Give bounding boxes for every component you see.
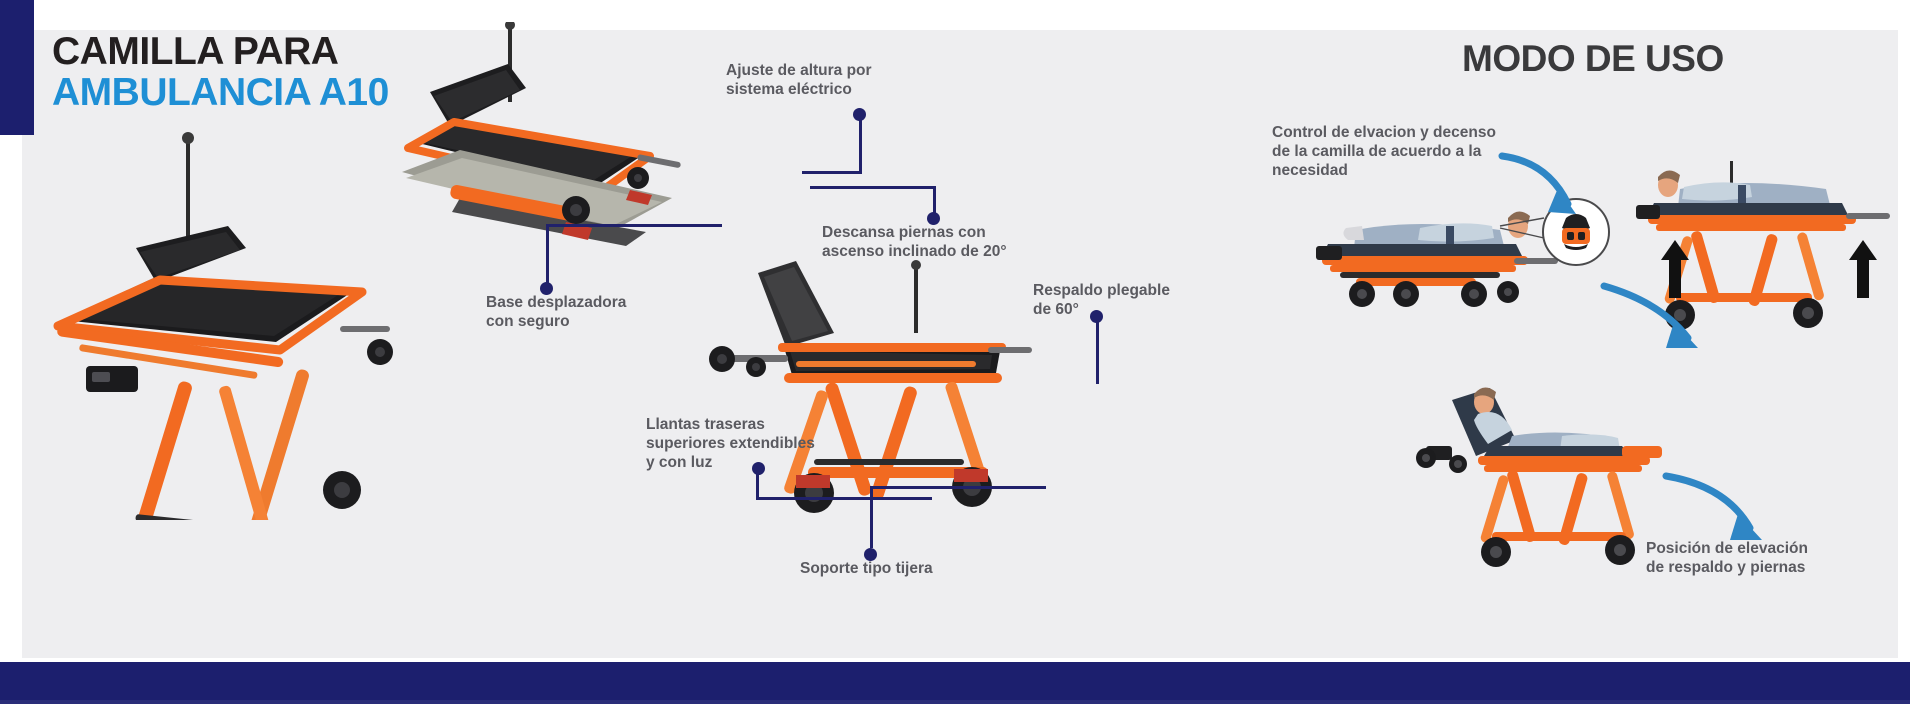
leader-ajuste-altura (802, 110, 932, 184)
callout-base-desplazadora: Base desplazadora con seguro (486, 294, 706, 332)
title-line-2: AMBULANCIA A10 (52, 73, 389, 114)
callout-ajuste-altura: Ajuste de altura por sistema eléctrico (726, 62, 956, 100)
leader-dot-llantas-traseras (752, 462, 765, 475)
leader-soporte-tijera (870, 486, 1050, 558)
arrow-up-right-icon (1848, 240, 1878, 298)
leader-base-desplazadora (546, 224, 726, 290)
leader-dot-soporte-tijera (864, 548, 877, 561)
callout-respaldo-plegable: Respaldo plegable de 60° (1033, 282, 1223, 320)
illustration-stretcher-fowler (1380, 380, 1680, 570)
leader-dot-descansa-piernas (927, 212, 940, 225)
arrow-curve-to-position-icon (1660, 470, 1770, 550)
infographic-canvas: CAMILLA PARA AMBULANCIA A10 MODO DE USO (0, 0, 1920, 720)
footer-band (0, 662, 1910, 704)
callout-posicion-elevacion: Posición de elevación de respaldo y pier… (1646, 540, 1906, 578)
callout-soporte-tijera: Soporte tipo tijera (800, 560, 1020, 579)
navy-corner-tab (0, 0, 34, 135)
stretcher-photo-loading-base (400, 22, 700, 252)
leader-dot-ajuste-altura (853, 108, 866, 121)
leader-dot-base-desplazadora (540, 282, 553, 295)
title-line-1: CAMILLA PARA (52, 32, 389, 73)
stretcher-photo-main (40, 130, 430, 520)
callout-descansa-piernas: Descansa piernas con ascenso inclinado d… (822, 224, 1082, 262)
leader-descansa-piernas (810, 186, 940, 222)
arrow-curve-down-left-icon (1596, 280, 1706, 358)
page-title: CAMILLA PARA AMBULANCIA A10 (52, 32, 389, 114)
leader-dot-respaldo-plegable (1090, 310, 1103, 323)
leader-respaldo-plegable (1092, 318, 1108, 388)
section-title-modo-de-uso: MODO DE USO (1462, 38, 1724, 80)
callout-control-elevacion: Control de elvacion y decenso de la cami… (1272, 124, 1572, 181)
